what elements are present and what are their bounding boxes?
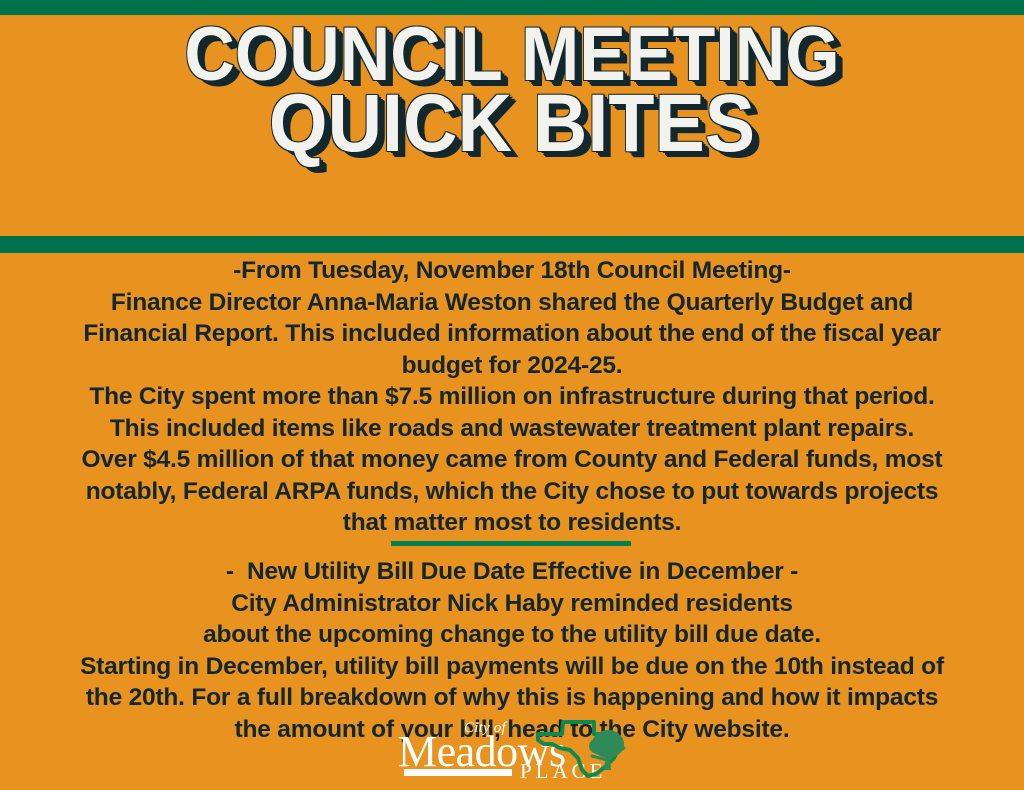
body-line: This included items like roads and waste… — [0, 413, 1024, 445]
section-divider — [391, 541, 631, 546]
budget-report-section: -From Tuesday, November 18th Council Mee… — [0, 255, 1024, 539]
body-line: - New Utility Bill Due Date Effective in… — [0, 556, 1024, 588]
city-of-meadows-place-logo: City of Meadows PLACE — [398, 722, 638, 788]
body-line: about the upcoming change to the utility… — [0, 619, 1024, 651]
body-line: The City spent more than $7.5 million on… — [0, 381, 1024, 413]
body-line: -From Tuesday, November 18th Council Mee… — [0, 255, 1024, 287]
body-line: budget for 2024-25. — [0, 350, 1024, 382]
utility-bill-section: - New Utility Bill Due Date Effective in… — [0, 556, 1024, 745]
body-line: City Administrator Nick Haby reminded re… — [0, 588, 1024, 620]
body-line: notably, Federal ARPA funds, which the C… — [0, 476, 1024, 508]
body-line: Financial Report. This included informat… — [0, 318, 1024, 350]
body-line: the 20th. For a full breakdown of why th… — [0, 682, 1024, 714]
poster-headline: COUNCIL MEETING QUICK BITES — [0, 22, 1024, 160]
body-line: that matter most to residents. — [0, 507, 1024, 539]
texas-outline-icon — [536, 718, 640, 780]
headline-line-2: QUICK BITES — [41, 89, 983, 160]
logo-white-rule — [404, 769, 512, 776]
body-line: Starting in December, utility bill payme… — [0, 651, 1024, 683]
council-meeting-quick-bites-poster: COUNCIL MEETING QUICK BITES -From Tuesda… — [0, 0, 1024, 790]
body-line: Over $4.5 million of that money came fro… — [0, 444, 1024, 476]
body-line: Finance Director Anna-Maria Weston share… — [0, 287, 1024, 319]
middle-green-band — [0, 236, 1024, 253]
